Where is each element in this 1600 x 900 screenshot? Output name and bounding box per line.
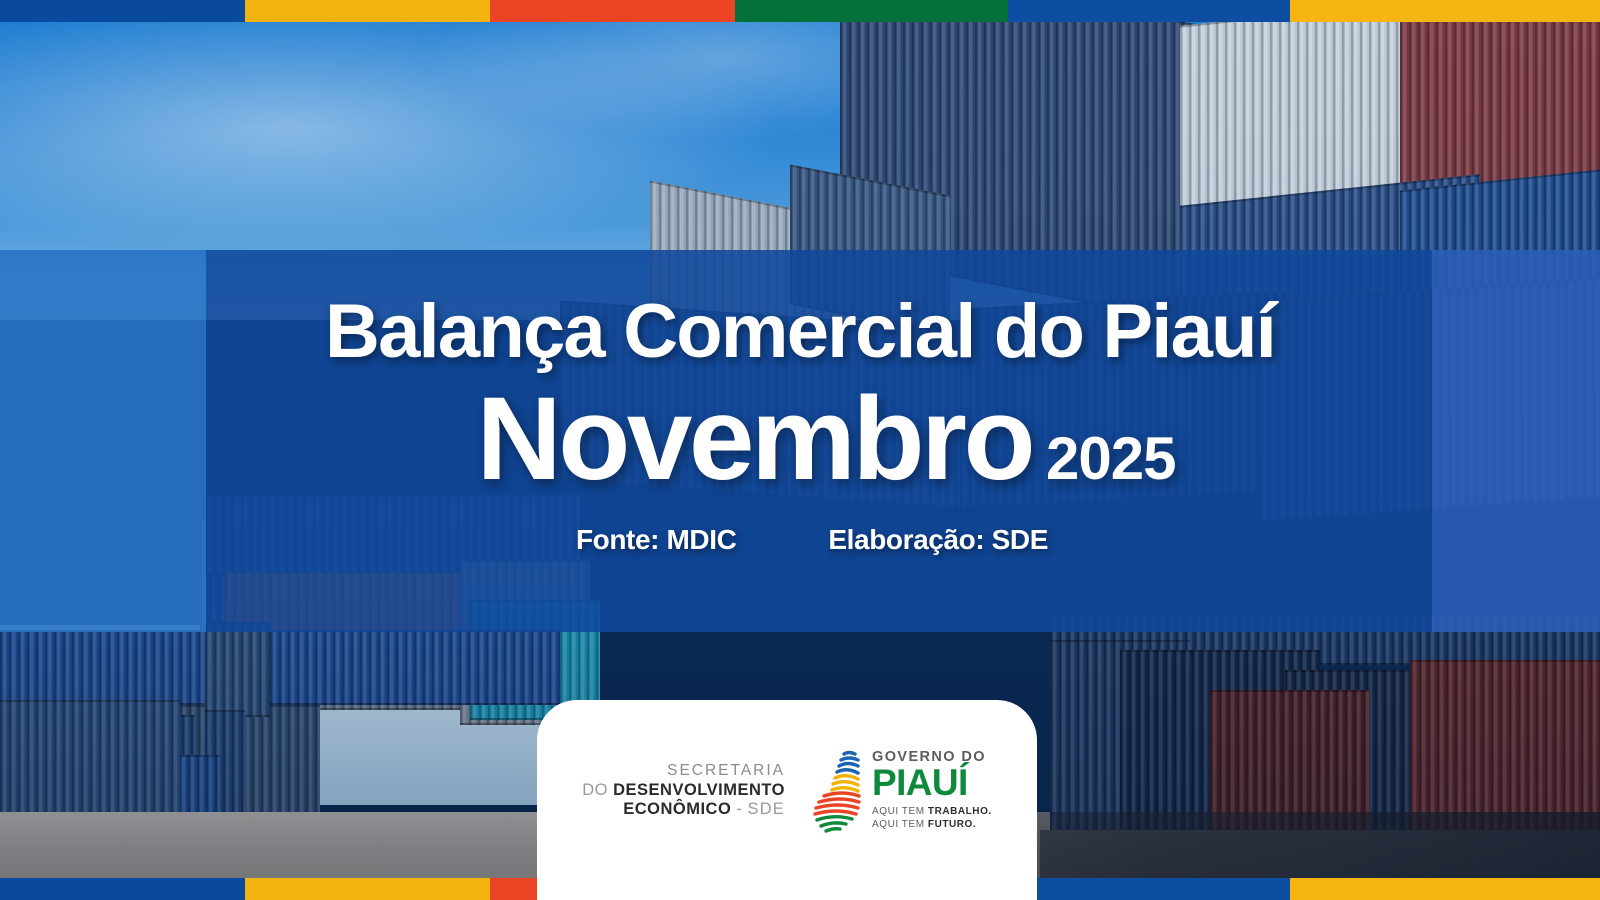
brand-stripe-segment [245, 878, 490, 900]
source-label: Fonte: MDIC [576, 524, 736, 556]
sde-dash: - [736, 800, 742, 818]
brand-stripe-segment [245, 0, 490, 22]
piaui-map-waves-icon [811, 749, 863, 833]
brand-stripe-segment [1290, 0, 1600, 22]
sde-do: DO [582, 781, 608, 799]
slogan-1-bold: TRABALHO. [928, 806, 992, 817]
brand-stripe-segment [0, 0, 245, 22]
brand-stripe-segment [1008, 878, 1290, 900]
sde-desenvolvimento: DESENVOLVIMENTO [613, 781, 785, 799]
sde-line-desenvolvimento: DO DESENVOLVIMENTO [582, 781, 785, 800]
brand-stripe-segment [735, 0, 1008, 22]
brand-stripe-segment [490, 0, 735, 22]
governo-piaui-logo: GOVERNO DO PIAUÍ AQUI TEM TRABALHO. AQUI… [811, 749, 992, 833]
period-month: Novembro [476, 380, 1032, 498]
page-title: Balança Comercial do Piauí [325, 294, 1275, 370]
brand-stripe-segment [1008, 0, 1290, 22]
sde-economico: ECONÔMICO [623, 800, 731, 818]
period-line: Novembro 2025 [476, 380, 1175, 498]
poster-canvas: Balança Comercial do Piauí Novembro 2025… [0, 0, 1600, 900]
sde-logo: SECRETARIA DO DESENVOLVIMENTO ECONÔMICO … [582, 762, 785, 819]
elaboration-label: Elaboração: SDE [828, 524, 1048, 556]
credits-row: Fonte: MDIC Elaboração: SDE [576, 524, 1048, 556]
governo-text: GOVERNO DO PIAUÍ AQUI TEM TRABALHO. AQUI… [872, 750, 992, 832]
governo-slogan: AQUI TEM TRABALHO. AQUI TEM FUTURO. [872, 805, 992, 832]
sde-abbr: SDE [747, 800, 785, 818]
hero-copy: Balança Comercial do Piauí Novembro 2025… [0, 250, 1600, 632]
sde-line-economico: ECONÔMICO - SDE [582, 800, 785, 819]
top-brand-stripe [0, 0, 1600, 22]
slogan-line-1: AQUI TEM TRABALHO. [872, 805, 992, 819]
sde-line-secretaria: SECRETARIA [582, 762, 785, 780]
slogan-1-light: AQUI TEM [872, 806, 928, 817]
logo-card: SECRETARIA DO DESENVOLVIMENTO ECONÔMICO … [537, 700, 1037, 900]
slogan-2-light: AQUI TEM [872, 819, 928, 830]
brand-stripe-segment [1290, 878, 1600, 900]
slogan-line-2: AQUI TEM FUTURO. [872, 818, 992, 832]
brand-stripe-segment [0, 878, 245, 900]
piaui-wordmark: PIAUÍ [872, 766, 992, 800]
period-year: 2025 [1046, 429, 1175, 489]
slogan-2-bold: FUTURO. [928, 819, 976, 830]
